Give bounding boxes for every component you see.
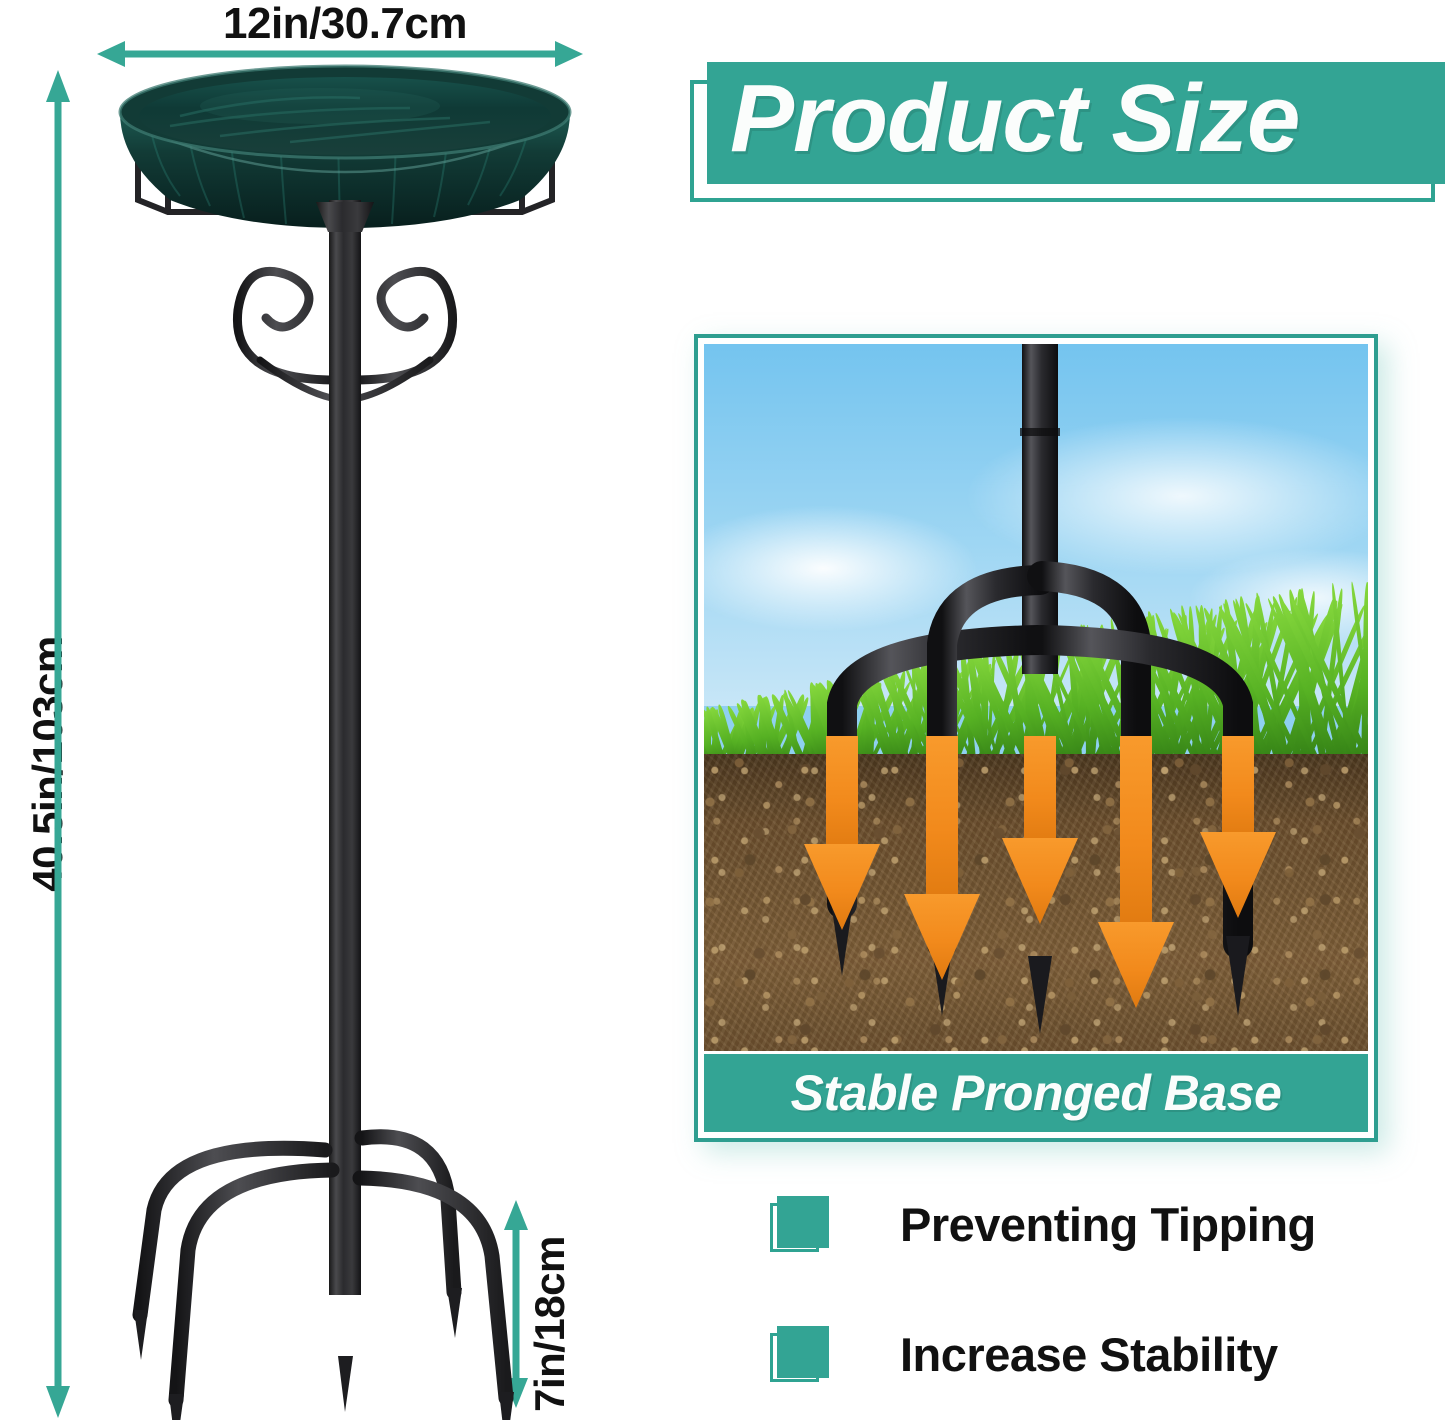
bullet-fill [777,1196,829,1248]
bird-bath-product-illustration [110,60,580,1420]
bullet-square-icon [770,1326,826,1382]
pronged-base-photo-panel: Stable Pronged Base [694,334,1378,1142]
orange-arrow-1 [804,736,880,930]
orange-arrow-2 [904,736,980,980]
pronged-base [140,1137,506,1400]
prong-diagram-overlay [704,344,1368,1132]
prong-tips [134,1288,514,1420]
orange-arrow-5 [1200,736,1276,918]
orange-arrow-3 [1002,736,1078,924]
photo-scene: Stable Pronged Base [704,344,1368,1132]
bullet-fill [777,1326,829,1378]
height-dimension-arrow [38,68,78,1420]
feature-label: Preventing Tipping [900,1196,1316,1254]
page-title: Product Size [730,58,1445,180]
feature-label: Increase Stability [900,1326,1278,1384]
bullet-square-icon [770,1196,826,1252]
orange-arrow-4 [1098,736,1174,1008]
photo-caption-bar: Stable Pronged Base [704,1051,1368,1132]
product-size-infographic: 12in/30.7cm 40.5in/103cm 7in/18cm [0,0,1445,1425]
product-size-header-banner: Product Size [690,62,1445,202]
bird-bath-pole [329,200,361,1295]
photo-caption-text: Stable Pronged Base [704,1054,1368,1132]
